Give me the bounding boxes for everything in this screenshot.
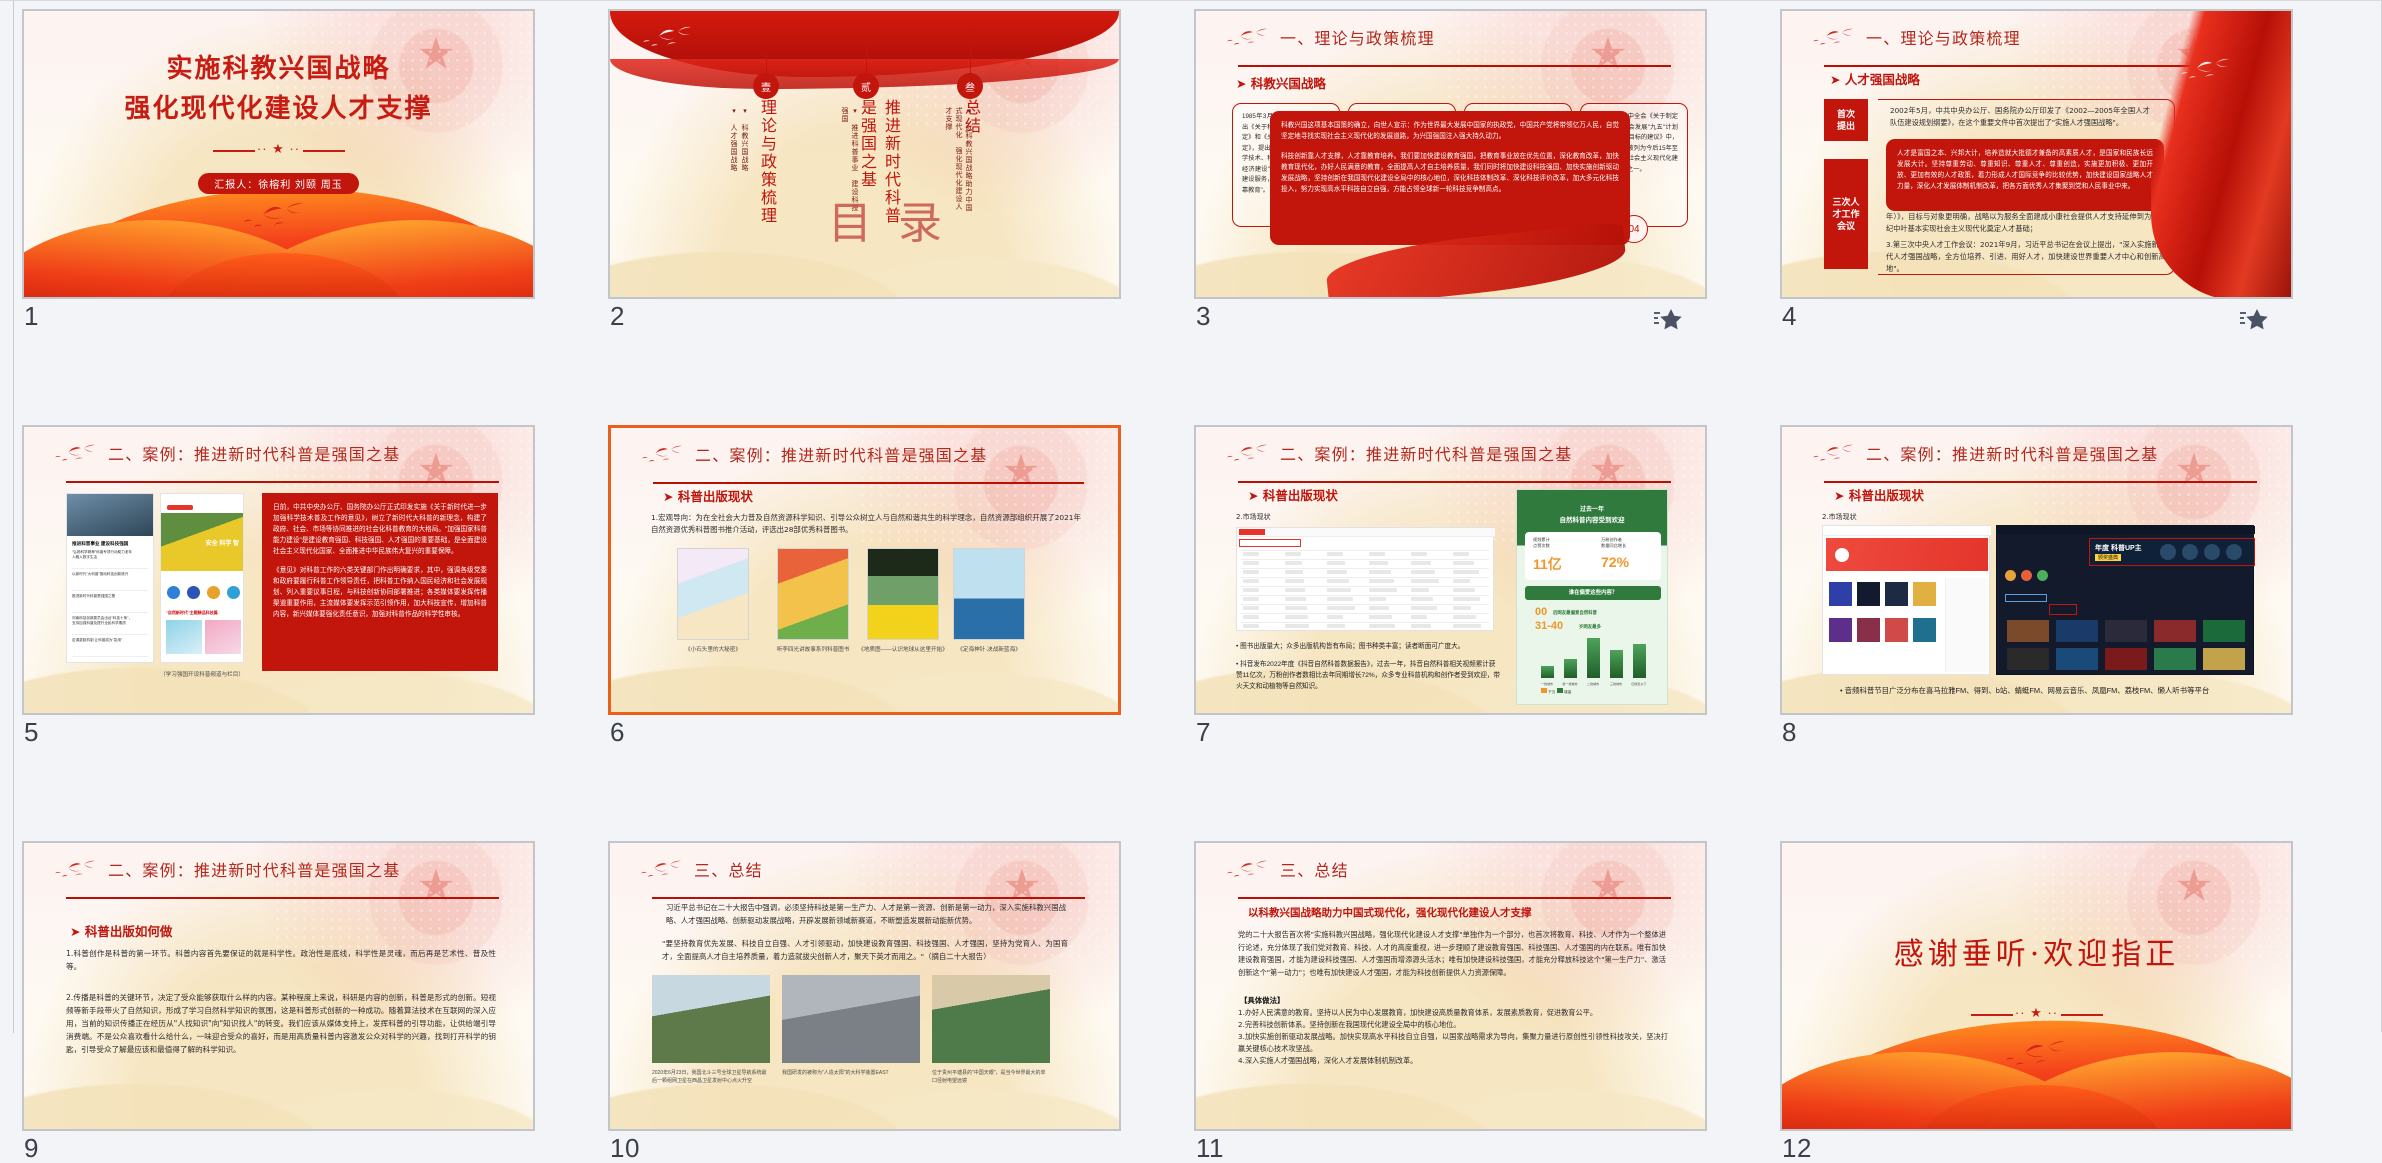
heading-rule xyxy=(66,897,499,900)
b-video-6[interactable] xyxy=(2007,648,2049,670)
infographic-subtitle: 自然科普内容受到欢迎 xyxy=(1517,514,1667,524)
slide-heading: 二、案例：推进新时代科普是强国之基 xyxy=(1222,441,1679,483)
toc-connector-1 xyxy=(766,55,767,73)
book-caption-3: 《地质图——认识地球从这里开始》 xyxy=(855,646,951,654)
bar-2 xyxy=(1564,659,1577,678)
slide-number-5: 5 xyxy=(24,717,39,747)
table-cell xyxy=(1327,588,1351,592)
slide-thumbnail-10[interactable]: 三、总结习近平总书记在二十大报告中强调，必须坚持科技是第一生产力、人才是第一资源… xyxy=(608,841,1121,1131)
audio-card-2 xyxy=(1857,582,1880,606)
animation-star-icon[interactable] xyxy=(2240,307,2270,333)
b-avatar-1 xyxy=(2160,544,2176,560)
table-cell xyxy=(1285,552,1301,556)
table-cell xyxy=(1411,570,1435,574)
slide-heading: 二、案例：推进新时代科普是强国之基 xyxy=(50,441,507,483)
table-cell xyxy=(1243,552,1259,556)
table-cell xyxy=(1453,588,1475,592)
table-cell xyxy=(1369,615,1392,619)
slide-number-2: 2 xyxy=(610,301,625,331)
audio-topbar xyxy=(1823,526,1991,536)
slide-cell-5: 二、案例：推进新时代科普是强国之基推进科普事业 建设科技强国"弘扬科学精神"科普… xyxy=(22,425,535,715)
b-award-banner: 年度 科普UP主颁奖盛典 xyxy=(2089,538,2255,566)
subheading: ➤ 科教兴国战略 xyxy=(1236,73,1326,92)
policy-overlay-callout: 科教兴国这项基本国策的确立，向世人宣示：作为世界最大发展中国家的执政党，中国共产… xyxy=(1270,111,1630,245)
bar-label-5: 四线及以下 xyxy=(1627,682,1651,686)
table-cell xyxy=(1453,606,1471,610)
stat-2-label: 万粉创作者 数量同比增长 xyxy=(1601,537,1657,548)
slide-number-6: 6 xyxy=(610,717,625,747)
book-cover-3 xyxy=(867,548,939,640)
slide-cell-7: 二、案例：推进新时代科普是强国之基➤ 科普出版现状2.市场现状过去一年自然科普内… xyxy=(1194,425,1707,715)
news-item-4[interactable]: 河南科技创新委员会出台"科技十条"，支持加强科普及提升全民科学素质 xyxy=(72,616,134,626)
classroom-photo xyxy=(67,494,154,536)
b-banner-subtitle: 颁奖盛典 xyxy=(2095,554,2121,561)
slide-thumbnail-8[interactable]: 二、案例：推进新时代科普是强国之基➤ 科普出版现状2.市场现状年度 科普UP主颁… xyxy=(1780,425,2293,715)
table-cell xyxy=(1369,570,1391,574)
table-cell xyxy=(1369,561,1388,565)
heading-title: 一、理论与政策梳理 xyxy=(1866,25,2021,49)
slide-heading: 三、总结 xyxy=(1222,857,1679,899)
slide-heading: 二、案例：推进新时代科普是强国之基 xyxy=(50,857,507,899)
toc-badge-2[interactable]: 贰 xyxy=(853,73,879,99)
heading-title: 三、总结 xyxy=(1280,857,1349,881)
heading-rule xyxy=(652,897,1085,900)
table-cell xyxy=(1285,570,1303,574)
table-cell xyxy=(1369,552,1385,556)
table-cell xyxy=(1411,597,1433,601)
book-cover-4 xyxy=(953,548,1025,640)
row-first-proposed: 2002年5月，中共中央办公厅、国务院办公厅印发了《2002—2005年全国人才… xyxy=(1890,105,2150,129)
stat-4-label: 岁网友最多 xyxy=(1579,624,1601,630)
summary-photo-1 xyxy=(652,975,770,1063)
heading-rule xyxy=(653,482,1084,485)
slide-thumbnail-11[interactable]: 三、总结以科教兴国战略助力中国式现代化，强化现代化建设人才支撑党的二十大报告首次… xyxy=(1194,841,1707,1131)
table-cell xyxy=(1327,624,1345,628)
table-row xyxy=(1241,568,1489,569)
subheading: ➤ 科普出版现状 xyxy=(663,486,753,505)
audio-bullet: • 音频科普节目广泛分布在喜马拉雅FM、得到、b站、蜻蜓FM、网易云音乐、凤凰F… xyxy=(1840,685,2260,696)
thanks-title: 感谢垂听·欢迎指正 xyxy=(1782,929,2291,973)
title-block: 实施科教兴国战略强化现代化建设人才支撑·· ★ ··汇报人：徐榕利 刘颐 周玉 xyxy=(24,49,533,194)
ribbon-birds-icon xyxy=(636,25,698,51)
howto-paragraph-2: 2.传播是科普的关键环节，决定了受众能够获取什么样的内容。某种程度上来说，科研是… xyxy=(66,991,496,1056)
slide-grid[interactable]: 实施科教兴国战略强化现代化建设人才支撑·· ★ ··汇报人：徐榕利 刘颐 周玉1… xyxy=(14,3,2374,1033)
table-cell xyxy=(1243,606,1259,610)
app-icon-2[interactable] xyxy=(187,586,200,599)
bar-label-1: 一线城市 xyxy=(1535,682,1559,686)
slide-cell-9: 二、案例：推进新时代科普是强国之基➤ 科普出版如何做1.科普创作是科普的第一环节… xyxy=(22,841,535,1131)
b-nav-icon-2[interactable] xyxy=(2021,570,2032,581)
news-divider-2 xyxy=(72,590,148,591)
table-cell xyxy=(1243,588,1259,592)
flying-birds-icon xyxy=(1222,443,1272,465)
table-toolbar xyxy=(1237,528,1495,537)
heading-rule xyxy=(1238,481,1671,484)
b-video-8[interactable] xyxy=(2105,648,2147,670)
table-active-chip xyxy=(1239,529,1265,535)
table-cell xyxy=(1411,615,1427,619)
table-cell xyxy=(1411,552,1427,556)
title-line-1: 实施科教兴国战略 xyxy=(24,49,533,89)
measure-3: 3.加快实施创新驱动发展战略。加快实现高水平科技自立自强，以国家战略需求为导向，… xyxy=(1238,1031,1668,1055)
table-cell xyxy=(1243,615,1259,619)
table-cell xyxy=(1285,561,1302,565)
table-cell xyxy=(1285,597,1306,601)
audio-body: 2.市场现状 xyxy=(1822,511,2022,523)
book-caption-1: 《小石头里的大秘密》 xyxy=(665,646,761,654)
measure-1: 1.办好人民满意的教育。坚持以人民为中心发展教育，加快建设高质量教育体系，发展素… xyxy=(1238,1007,1668,1019)
heading-birds-icon xyxy=(1222,443,1274,465)
table-cell xyxy=(1243,579,1259,583)
toc-connector-3 xyxy=(970,27,971,73)
measure-4: 4.深入实施人才强国战略，深化人才发展体制机制改革。 xyxy=(1238,1055,1668,1067)
bar-4 xyxy=(1610,650,1623,678)
slide-number-4: 4 xyxy=(1782,301,1797,331)
red-curtain-decor xyxy=(2151,11,2291,297)
table-cell xyxy=(1411,588,1429,592)
slide-canvas-2: 壹理论与政策梳理▾ 科教兴国战略▾ 人才强国战略贰推进新时代科普是强国之基▾ 推… xyxy=(610,11,1119,297)
flying-birds-icon xyxy=(50,859,100,881)
news-divider-4 xyxy=(72,634,148,635)
audio-card-7 xyxy=(1885,618,1908,642)
slide-canvas-12: 感谢垂听·欢迎指正·· ★ ·· xyxy=(1782,843,2291,1129)
slide-thumbnail-12[interactable]: 感谢垂听·欢迎指正·· ★ ·· xyxy=(1780,841,2293,1131)
slide-thumbnail-1[interactable]: 实施科教兴国战略强化现代化建设人才支撑·· ★ ··汇报人：徐榕利 刘颐 周玉 xyxy=(22,9,535,299)
slide-heading: 一、理论与政策梳理 xyxy=(1222,25,1679,67)
toc-connector-2 xyxy=(866,39,867,73)
table-cell xyxy=(1243,561,1259,565)
slide-number-8: 8 xyxy=(1782,717,1797,747)
b-nav-icon-3[interactable] xyxy=(2037,570,2048,581)
heading-rule xyxy=(1824,481,2257,484)
flying-birds-icon xyxy=(1222,27,1272,49)
news-caption: （学习强国开设科普频道与栏目） xyxy=(142,671,262,679)
divider-ornament: ·· ★ ·· xyxy=(257,141,300,157)
presenter-badge: 汇报人：徐榕利 刘颐 周玉 xyxy=(198,173,359,194)
table-cell xyxy=(1285,579,1304,583)
table-cell xyxy=(1327,597,1353,601)
audio-avatar xyxy=(1835,548,1849,562)
b-topbar xyxy=(1997,526,2255,534)
title-birds-icon xyxy=(236,201,310,233)
table-cell xyxy=(1327,570,1347,574)
slide-canvas-1: 实施科教兴国战略强化现代化建设人才支撑·· ★ ··汇报人：徐榕利 刘颐 周玉 xyxy=(24,11,533,297)
toc-watermark-title: 目 录 xyxy=(828,187,948,251)
flying-birds-icon xyxy=(1808,27,1858,49)
slide-number-1: 1 xyxy=(24,301,39,331)
b-nav-icon-1[interactable] xyxy=(2005,570,2016,581)
subheading: ➤ 科普出版现状 xyxy=(1248,485,1338,504)
audio-card-3 xyxy=(1885,582,1908,606)
b-filter-active xyxy=(2005,594,2047,602)
title-line-2: 强化现代化建设人才支撑 xyxy=(24,89,533,129)
slide-canvas-5: 二、案例：推进新时代科普是强国之基推进科普事业 建设科技强国"弘扬科学精神"科普… xyxy=(24,427,533,713)
heading-rule xyxy=(1238,65,1671,68)
news-item-5[interactable]: 定调激励机制 让科普成为"急用" xyxy=(72,638,134,643)
infographic-stat-card: 视频累计 点赞次数11亿万粉创作者 数量同比增长72% xyxy=(1525,532,1661,580)
app-icon-1[interactable] xyxy=(167,586,180,599)
heading-title: 二、案例：推进新时代科普是强国之基 xyxy=(1280,441,1572,465)
thanks-birds-icon xyxy=(1998,1039,2072,1071)
heading-birds-icon xyxy=(636,859,688,881)
book-caption-2: 听李四光讲故事系列科普图书 xyxy=(765,646,861,654)
stat-4-value: 31-40 xyxy=(1535,620,1563,632)
heading-birds-icon xyxy=(1808,443,1860,465)
heading-birds-icon xyxy=(637,444,689,466)
slide-number-12: 12 xyxy=(1782,1133,1812,1163)
toc-badge-1[interactable]: 壹 xyxy=(753,73,779,99)
app-topbar xyxy=(161,494,244,503)
chart-legend: 下沉 增量 xyxy=(1541,688,1571,695)
stat-3-value: 00 xyxy=(1535,606,1547,618)
bar-label-4: 三线城市 xyxy=(1604,682,1628,686)
slide-thumbnail-3[interactable]: 一、理论与政策梳理➤ 科教兴国战略1985年3月和5月，中央相继作出《关于科学技… xyxy=(1194,9,1707,299)
slide-number-7: 7 xyxy=(1196,717,1211,747)
title-divider: ·· ★ ·· xyxy=(213,145,345,157)
stat-2-value: 72% xyxy=(1601,554,1629,570)
table-cell xyxy=(1411,606,1437,610)
summary-photo-caption-3: 位于贵州平塘县的"中国天眼"，是当今世界最大的单口径射电望远镜 xyxy=(932,1069,1050,1085)
table-cell xyxy=(1369,624,1395,628)
table-cell xyxy=(1327,615,1343,619)
app-banner-text: 安全 科学 智 xyxy=(206,538,239,547)
news-divider-1 xyxy=(72,568,148,569)
app-icon-4[interactable] xyxy=(227,586,240,599)
slide-number-11: 11 xyxy=(1196,1133,1224,1163)
app-section-title: "自然新时代"主题精品科技篇 xyxy=(166,610,218,616)
animation-star-icon[interactable] xyxy=(1654,307,1684,333)
heading-title: 二、案例：推进新时代科普是强国之基 xyxy=(108,441,400,465)
row-third: 3.第三次中央人才工作会议：2021年9月，习近平总书记在会议上提出，"深入实施… xyxy=(1886,239,2166,275)
flying-birds-icon xyxy=(1808,443,1858,465)
thanks-divider: ·· ★ ·· xyxy=(1971,1009,2103,1021)
slide-heading: 二、案例：推进新时代科普是强国之基 xyxy=(637,442,1092,484)
table-cell xyxy=(1411,561,1431,565)
b-video-10[interactable] xyxy=(2203,648,2245,670)
news-item-1[interactable]: "弘扬科学精神"科普专项行动助力老年人融入数字生活 xyxy=(72,550,134,560)
table-row xyxy=(1241,613,1489,614)
stat-1-value: 11亿 xyxy=(1533,554,1562,574)
slide-thumbnail-5[interactable]: 二、案例：推进新时代科普是强国之基推进科普事业 建设科技强国"弘扬科学精神"科普… xyxy=(22,425,535,715)
table-cell xyxy=(1411,624,1431,628)
bar-5 xyxy=(1633,644,1646,678)
bar-1 xyxy=(1541,666,1554,678)
slide-canvas-9: 二、案例：推进新时代科普是强国之基➤ 科普出版如何做1.科普创作是科普的第一环节… xyxy=(24,843,533,1129)
slide-cell-6: 二、案例：推进新时代科普是强国之基➤ 科普出版现状1.宏观导向：为在全社会大力普… xyxy=(608,425,1121,715)
table-row xyxy=(1241,559,1489,560)
flying-birds-icon xyxy=(1222,859,1272,881)
b-video-4[interactable] xyxy=(2154,620,2196,642)
presenter-wrap: 汇报人：徐榕利 刘颐 周玉 xyxy=(24,157,533,194)
bar-3 xyxy=(1587,638,1600,678)
app-active-tab xyxy=(167,505,193,510)
market-bullet-1: • 图书出版量大；众多出版机构皆有布局；图书种类丰富；读者断面可广度大。 xyxy=(1236,641,1502,652)
heading-title: 二、案例：推进新时代科普是强国之基 xyxy=(108,857,400,881)
slide-thumbnail-6[interactable]: 二、案例：推进新时代科普是强国之基➤ 科普出版现状1.宏观导向：为在全社会大力普… xyxy=(608,425,1121,715)
app-thumb-1 xyxy=(166,620,202,654)
slide-heading: 二、案例：推进新时代科普是强国之基 xyxy=(1808,441,2265,483)
summary-paragraph-1: 习近平总书记在二十大报告中强调，必须坚持科技是第一生产力、人才是第一资源、创新是… xyxy=(666,901,1066,927)
slide-number-3: 3 xyxy=(1196,301,1211,331)
infographic-section-2-title: 谁在偏爱这些内容？ xyxy=(1525,586,1661,600)
subheading: ➤ 科普出版如何做 xyxy=(70,921,172,940)
table-cell xyxy=(1453,615,1476,619)
slide-thumbnail-2[interactable]: 壹理论与政策梳理▾ 科教兴国战略▾ 人才强国战略贰推进新时代科普是强国之基▾ 推… xyxy=(608,9,1121,299)
news-divider-3 xyxy=(72,612,148,613)
slide-cell-11: 三、总结以科教兴国战略助力中国式现代化，强化现代化建设人才支撑党的二十大报告首次… xyxy=(1194,841,1707,1131)
table-cell xyxy=(1369,579,1394,583)
app-icon-3[interactable] xyxy=(207,586,220,599)
table-cell xyxy=(1327,606,1355,610)
news-panel: 推进科普事业 建设科技强国"弘扬科学精神"科普专项行动助力老年人融入数字生活以新… xyxy=(66,493,154,663)
slide-sorter-app: 实施科教兴国战略强化现代化建设人才支撑·· ★ ··汇报人：徐榕利 刘颐 周玉1… xyxy=(0,0,2382,1032)
b-video-7[interactable] xyxy=(2056,648,2098,670)
measure-2: 2.完善科技创新体系。坚持创新在我国现代化建设全局中的核心地位。 xyxy=(1238,1019,1668,1031)
flying-birds-icon xyxy=(637,444,687,466)
book-caption-4: 《定海神针·决战新蓝海》 xyxy=(941,646,1037,654)
toc-item-sub-1-1: ▾ 科教兴国战略 xyxy=(739,107,749,217)
slide-thumbnail-7[interactable]: 二、案例：推进新时代科普是强国之基➤ 科普出版现状2.市场现状过去一年自然科普内… xyxy=(1194,425,1707,715)
audio-card-6 xyxy=(1857,618,1880,642)
b-video-3[interactable] xyxy=(2105,620,2147,642)
left-rail xyxy=(0,1,14,1033)
b-video-9[interactable] xyxy=(2154,648,2196,670)
heading-title: 二、案例：推进新时代科普是强国之基 xyxy=(695,442,987,466)
divider-ornament: ·· ★ ·· xyxy=(2015,1005,2058,1021)
flying-birds-icon xyxy=(636,859,686,881)
slide-canvas-7: 二、案例：推进新时代科普是强国之基➤ 科普出版现状2.市场现状过去一年自然科普内… xyxy=(1196,427,1705,713)
slide-canvas-11: 三、总结以科教兴国战略助力中国式现代化，强化现代化建设人才支撑党的二十大报告首次… xyxy=(1196,843,1705,1129)
table-cell xyxy=(1285,588,1305,592)
audio-card-8 xyxy=(1913,618,1936,642)
audio-sidebar xyxy=(1945,578,1988,672)
table-row xyxy=(1241,550,1489,551)
table-cell xyxy=(1453,579,1470,583)
news-item-2[interactable]: 以新时代"大科普"推动科技创新跃升 xyxy=(72,572,134,577)
table-cell xyxy=(1453,552,1469,556)
white-doves-icon xyxy=(2175,57,2235,83)
book-cover-2 xyxy=(777,548,849,640)
ximalaya-screenshot xyxy=(1822,525,1990,675)
slide-cell-1: 实施科教兴国战略强化现代化建设人才支撑·· ★ ··汇报人：徐榕利 刘颐 周玉1 xyxy=(22,9,535,299)
b-video-1[interactable] xyxy=(2007,620,2049,642)
summary-photo-caption-1: 2020年6月23日，我国北斗三号全球卫星导航系统最后一颗组网卫星在西昌卫星发射… xyxy=(652,1069,770,1085)
slide-heading: 三、总结 xyxy=(636,857,1093,899)
market-bullet-2: • 抖音发布2022年度《抖音自然科普数据报告》，过去一年，抖音自然科普相关视频… xyxy=(1236,659,1502,692)
tab-first-proposed: 首次提出 xyxy=(1824,99,1868,141)
heading-birds-icon xyxy=(1808,27,1860,49)
table-row xyxy=(1241,622,1489,623)
summary-photo-2 xyxy=(782,975,920,1063)
table-cell xyxy=(1453,597,1480,601)
toc-item-sub-1-2: ▾ 人才强国战略 xyxy=(728,107,738,217)
books-body: 1.宏观导向：为在全社会大力普及自然资源科学知识、引导公众树立人与自然和谐共生的… xyxy=(651,512,1081,536)
slide-number-10: 10 xyxy=(610,1133,640,1163)
heading-title: 三、总结 xyxy=(694,857,763,881)
slide-canvas-8: 二、案例：推进新时代科普是强国之基➤ 科普出版现状2.市场现状年度 科普UP主颁… xyxy=(1782,427,2291,713)
table-cell xyxy=(1411,579,1439,583)
table-cell xyxy=(1243,570,1259,574)
b-avatar-4 xyxy=(2226,544,2242,560)
audio-card-5 xyxy=(1829,618,1852,642)
slide-canvas-10: 三、总结习近平总书记在二十大报告中强调，必须坚持科技是第一生产力、人才是第一资源… xyxy=(610,843,1119,1129)
case-red-callout: 日前，中共中央办公厅、国务院办公厅正式印发实施《关于新时代进一步加强科学技术普及… xyxy=(262,493,498,671)
table-cell xyxy=(1369,588,1397,592)
summary-photo-caption-2: 我国研发的被称为"人造太阳"的大科学装置EAST xyxy=(782,1069,920,1077)
toc-item-title-1[interactable]: 理论与政策梳理 xyxy=(755,99,779,229)
overlay-paragraph-1: 科教兴国这项基本国策的确立，向世人宣示：作为世界最大发展中国家的执政党，中国共产… xyxy=(1281,120,1619,142)
b-avatar-2 xyxy=(2182,544,2198,560)
b-video-5[interactable] xyxy=(2203,620,2245,642)
row-second: 年）》，目标与对象更明确，战略以为服务全面建成小康社会提供人才支持延伸到为本世纪… xyxy=(1886,211,2166,235)
app-thumb-2 xyxy=(205,620,241,654)
b-banner-title: 年度 科普UP主 xyxy=(2095,543,2142,553)
toc-badge-3[interactable]: 叁 xyxy=(957,73,983,99)
flying-birds-icon xyxy=(50,443,100,465)
table-cell xyxy=(1327,579,1349,583)
market-body: 2.市场现状 xyxy=(1236,511,1436,523)
heading-birds-icon xyxy=(1222,27,1274,49)
heading-title: 二、案例：推进新时代科普是强国之基 xyxy=(1866,441,2158,465)
heading-birds-icon xyxy=(50,859,102,881)
bar-label-2: 新一线城市 xyxy=(1558,682,1582,686)
audio-card-1 xyxy=(1829,582,1852,606)
b-avatar-3 xyxy=(2204,544,2220,560)
infographic-title: 过去一年 xyxy=(1517,504,1667,513)
summary-paragraph-2: "要坚持教育优先发展、科技自立自强、人才引领驱动，加快建设教育强国、科技强国、人… xyxy=(662,937,1068,963)
news-item-3[interactable]: 推进新时代科普是强国之基 xyxy=(72,594,134,599)
bilibili-screenshot: 年度 科普UP主颁奖盛典 xyxy=(1996,525,2254,675)
red-paragraph-2: 《意见》对科普工作的六类关键部门作出明确要求，其中，强调各级党委和政府要履行科普… xyxy=(273,565,487,620)
news-divider-5 xyxy=(72,656,148,657)
slide-canvas-3: 一、理论与政策梳理➤ 科教兴国战略1985年3月和5月，中央相继作出《关于科学技… xyxy=(1196,11,1705,297)
heading-birds-icon xyxy=(1222,859,1274,881)
summary-title: 以科教兴国战略助力中国式现代化，强化现代化建设人才支撑 xyxy=(1248,905,1532,920)
slide-canvas-4: 一、理论与政策梳理➤ 人才强国战略首次提出三次人才工作会议2002年5月，中共中… xyxy=(1782,11,2291,297)
table-cell xyxy=(1285,615,1308,619)
slide-canvas-6: 二、案例：推进新时代科普是强国之基➤ 科普出版现状1.宏观导向：为在全社会大力普… xyxy=(611,428,1118,712)
table-cell xyxy=(1285,606,1307,610)
audio-hero xyxy=(1826,538,1988,571)
slide-cell-2: 壹理论与政策梳理▾ 科教兴国战略▾ 人才强国战略贰推进新时代科普是强国之基▾ 推… xyxy=(608,9,1121,299)
slide-number-9: 9 xyxy=(24,1133,39,1163)
audio-card-4 xyxy=(1913,582,1936,606)
market-table-screenshot xyxy=(1236,527,1494,631)
table-cell xyxy=(1369,606,1389,610)
slide-thumbnail-9[interactable]: 二、案例：推进新时代科普是强国之基➤ 科普出版如何做1.科普创作是科普的第一环节… xyxy=(22,841,535,1131)
heading-title: 一、理论与政策梳理 xyxy=(1280,25,1435,49)
slide-thumbnail-4[interactable]: 一、理论与政策梳理➤ 人才强国战略首次提出三次人才工作会议2002年5月，中共中… xyxy=(1780,9,2293,299)
table-cell xyxy=(1243,597,1259,601)
slide-cell-8: 二、案例：推进新时代科普是强国之基➤ 科普出版现状2.市场现状年度 科普UP主颁… xyxy=(1780,425,2293,715)
table-row xyxy=(1241,577,1489,578)
slide-cell-4: 一、理论与政策梳理➤ 人才强国战略首次提出三次人才工作会议2002年5月，中共中… xyxy=(1780,9,2293,299)
table-cell xyxy=(1453,561,1474,565)
slide-cell-12: 感谢垂听·欢迎指正·· ★ ··12 xyxy=(1780,841,2293,1131)
table-cell xyxy=(1453,624,1481,628)
table-row xyxy=(1241,586,1489,587)
subheading: ➤ 人才强国战略 xyxy=(1830,69,1920,88)
red-silk-waves xyxy=(1782,1017,2291,1129)
douyin-infographic: 过去一年自然科普内容受到欢迎视频累计 点赞次数11亿万粉创作者 数量同比增长72… xyxy=(1516,489,1668,705)
slide-cell-3: 一、理论与政策梳理➤ 科教兴国战略1985年3月和5月，中央相继作出《关于科学技… xyxy=(1194,9,1707,299)
b-filter-highlight xyxy=(2049,604,2077,615)
b-video-2[interactable] xyxy=(2056,620,2098,642)
howto-paragraph-1: 1.科普创作是科普的第一环节。科普内容首先要保证的就是科学性。政治性是底线，科学… xyxy=(66,947,496,973)
heading-rule xyxy=(66,481,499,484)
measures-title: 【具体做法】 xyxy=(1240,995,1284,1006)
table-cell xyxy=(1327,561,1345,565)
